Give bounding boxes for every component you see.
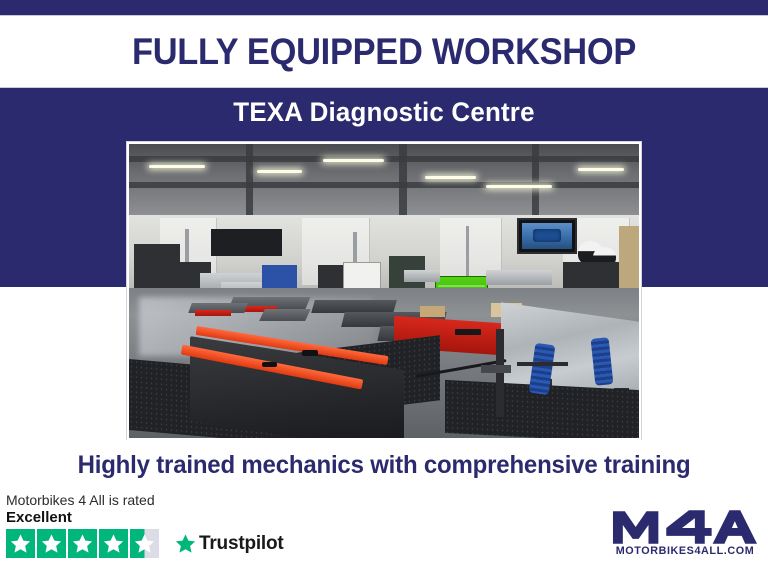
trustpilot-star-2 <box>37 529 66 558</box>
wall-tv <box>517 218 577 254</box>
trustpilot-score-label: Excellent <box>6 509 336 526</box>
workbench <box>404 270 440 282</box>
cardboard-box <box>420 306 446 318</box>
workshop-photo-frame <box>127 142 641 440</box>
trustpilot-rating-row: Trustpilot <box>6 529 336 558</box>
trustpilot-stars <box>6 529 161 558</box>
foot-pedal <box>481 365 512 374</box>
equipment-bar <box>517 362 568 367</box>
ceiling-post <box>246 144 253 215</box>
trustpilot-widget[interactable]: Motorbikes 4 All is rated Excellent <box>6 492 336 558</box>
ramp <box>259 309 310 321</box>
strip-light <box>323 159 384 162</box>
tv-screen <box>522 223 572 249</box>
trustpilot-brand-text: Trustpilot <box>199 533 284 555</box>
tv-motorcycle-image <box>533 229 561 242</box>
m4a-logo[interactable]: MOTORBIKES4ALL.COM <box>611 508 759 564</box>
lift-fitting <box>262 362 277 368</box>
workbench <box>486 270 552 285</box>
equipment-post <box>496 329 504 417</box>
promo-banner: FULLY EQUIPPED WORKSHOP TEXA Diagnostic … <box>0 0 768 576</box>
strip-light <box>578 168 624 171</box>
strip-light <box>257 170 303 173</box>
trustpilot-star-icon <box>175 533 196 554</box>
subtitle: TEXA Diagnostic Centre <box>15 98 752 128</box>
lift-fitting <box>302 350 317 356</box>
strip-light <box>149 165 205 168</box>
trustpilot-brand[interactable]: Trustpilot <box>175 533 284 555</box>
ceiling-post <box>399 144 407 215</box>
tool-board <box>211 229 282 255</box>
ceiling-beam <box>129 182 639 187</box>
ceiling-beam <box>129 156 639 162</box>
m4a-logo-mark <box>611 508 759 546</box>
trustpilot-star-4 <box>99 529 128 558</box>
m4a-wordmark: MOTORBIKES4ALL.COM <box>612 545 757 557</box>
strip-light <box>486 185 552 188</box>
trustpilot-star-5-half <box>130 529 159 558</box>
page-title: FULLY EQUIPPED WORKSHOP <box>132 33 636 70</box>
headline-band: FULLY EQUIPPED WORKSHOP <box>0 15 768 88</box>
tagline: Highly trained mechanics with comprehens… <box>15 452 752 480</box>
lift-clamp <box>455 329 481 335</box>
trustpilot-star-3 <box>68 529 97 558</box>
trustpilot-rated-text: Motorbikes 4 All is rated <box>6 492 336 508</box>
wood-panel <box>619 226 639 291</box>
workshop-photo <box>129 144 639 438</box>
ceiling <box>129 144 639 215</box>
top-navy-strip <box>0 0 768 15</box>
ceiling-post <box>532 144 539 215</box>
red-lift-base <box>195 310 231 316</box>
strip-light <box>425 176 476 179</box>
trustpilot-star-1 <box>6 529 35 558</box>
